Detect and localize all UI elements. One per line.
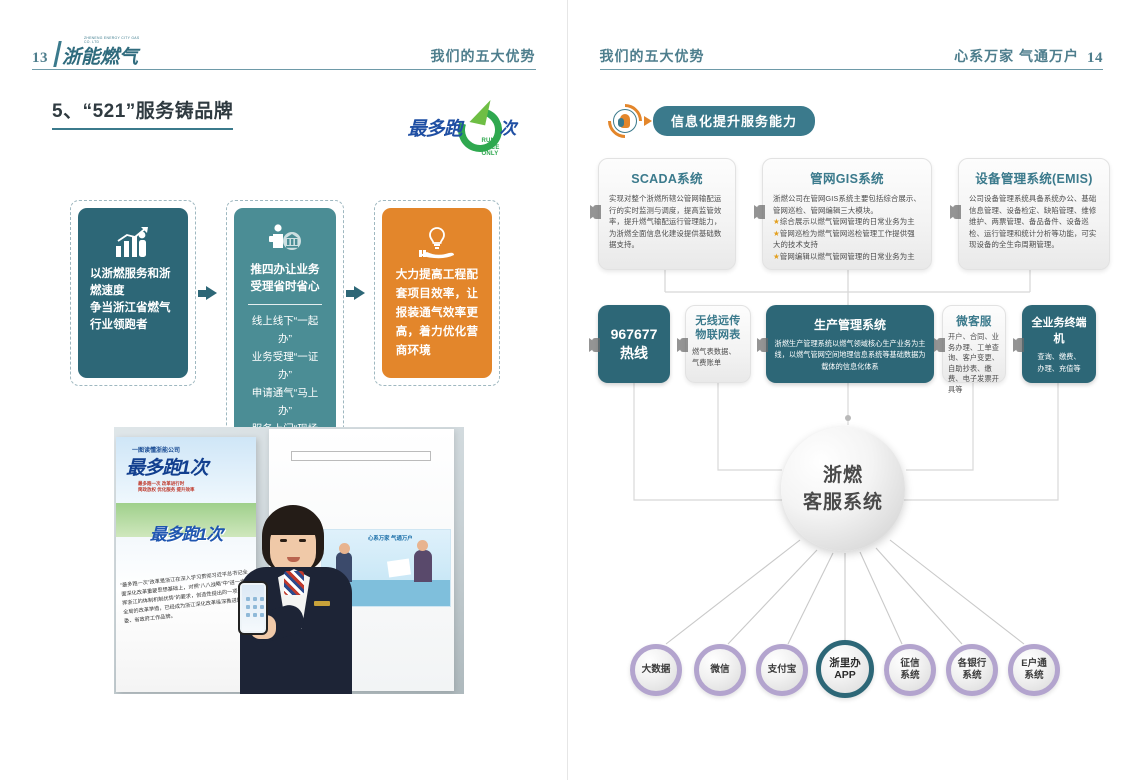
iot-meter-body: 燃气表数据、气费账单 [692,346,744,368]
hub-line-1: 浙燃 [823,462,863,489]
iot-meter-title: 无线远传物联网表 [692,314,744,342]
hub-line-2: 客服系统 [803,489,883,516]
gis-title: 管网GIS系统 [773,168,921,187]
hotline-label: 热线 [620,344,648,363]
run-once-badge: 最多跑 次 RUN ONCE ONLY [408,96,530,154]
system-card-iot-meter[interactable]: 无线远传物联网表 燃气表数据、气费账单 [685,305,751,383]
customer-service-hub[interactable]: 浙燃 客服系统 [781,427,905,551]
system-card-production[interactable]: 生产管理系统 浙燃生产管理系统以燃气领域核心生产业务为主线，以燃气管网空间地理信… [766,305,934,383]
page-number-right: 14 [1087,50,1103,69]
system-card-hotline[interactable]: 967677 热线 [598,305,670,383]
card-arrow-icon [589,338,599,352]
photo-phone [238,581,268,635]
flow-card-1-head: 以浙燃服务和浙 燃速度 争当浙江省燃气 行业领跑者 [90,266,176,334]
flow-arrow-1 [196,200,226,386]
scada-title: SCADA系统 [609,168,725,187]
bar-chart-growth-icon [113,224,153,260]
emis-body: 公司设备管理系统具备系统办公、基础信息管理、设备检定、缺陷管理、维修维护、两票管… [969,193,1099,251]
card-arrow-icon [934,338,944,352]
panel-title-text [291,451,431,461]
flow-card-wrap-3: 大力提高工程配 套项目效率，让 报装通气效率更 高，着力优化营 商环境 [374,200,500,386]
badge-text-1: 最多跑 [408,114,462,141]
system-card-wechat-service[interactable]: 微客服 开户、合同、业务办理、工单查询、客户变更、自助抄表、缴费、电子发票开具等 [942,305,1006,383]
node-label: 浙里办APP [829,657,861,681]
channel-node-bigdata[interactable]: 大数据 [630,644,682,696]
card-arrow-icon [950,205,960,219]
service-counter-icon [267,220,303,256]
node-label: 大数据 [642,664,671,676]
hotline-number: 967677 [611,325,658,344]
pill-arrow-icon [644,116,652,126]
section-pill[interactable]: 信息化提升服务能力 [608,104,815,138]
gis-star-1: ★综合展示以燃气管网管理的日常业务为主 [773,216,921,228]
card-arrow-icon [677,338,687,352]
production-body: 浙燃生产管理系统以燃气领域核心生产业务为主线，以燃气管网空间地理信息系统等基础数… [774,338,926,372]
card-arrow-icon [754,205,764,219]
flow-card-2-head: 推四办让业务 受理省时省心 [251,262,320,296]
scada-body: 实现对整个浙燃所辖公管网输配运行的实时监测与调度，提高监管效率，提升燃气输配运行… [609,193,725,251]
header-right-group: 心系万家 气通万户 14 [954,46,1103,69]
left-page: 13 ZHENENG ENERGY CITY GAS CO. LTD 浙能燃气 … [0,0,568,780]
page-spread: 13 ZHENENG ENERGY CITY GAS CO. LTD 浙能燃气 … [0,0,1135,780]
banner-headline: 最多跑1次 [126,453,208,480]
right-header-slogan: 心系万家 气通万户 [954,46,1079,69]
left-page-header: 13 ZHENENG ENERGY CITY GAS CO. LTD 浙能燃气 … [32,40,536,70]
node-label: 支付宝 [768,664,797,676]
gis-star-2: ★管网巡检为燃气管网巡检管理工作提供强大的技术支持 [773,228,921,251]
lightbulb-hand-icon [417,224,457,260]
card-divider [248,304,322,305]
header-left-group: 13 ZHENENG ENERGY CITY GAS CO. LTD 浙能燃气 [32,41,160,69]
card-arrow-icon [757,338,767,352]
logo-bar-icon [53,41,62,67]
node-label: 征信系统 [900,658,919,682]
flow-card-3-head: 大力提高工程配 套项目效率，让 报装通气效率更 高，着力优化营 商环境 [396,266,479,361]
card-arrow-icon [1013,338,1023,352]
channel-node-credit[interactable]: 征信系统 [884,644,936,696]
node-label: 微信 [710,664,729,676]
terminal-body: 查询、缴费、办理、充值等 [1037,351,1080,374]
system-card-emis[interactable]: 设备管理系统(EMIS) 公司设备管理系统具备系统办公、基础信息管理、设备检定、… [958,158,1110,270]
badge-english: RUN ONCE ONLY [482,138,500,158]
section-title: 5、“521”服务铸品牌 [52,96,233,130]
channel-node-zhelib-app[interactable]: 浙里办APP [816,640,874,698]
section-pill-label: 信息化提升服务能力 [653,106,815,136]
right-page-header: 我们的五大优势 心系万家 气通万户 14 [600,40,1104,70]
wechat-service-title: 微客服 [948,313,1000,329]
flow-card-1[interactable]: 以浙燃服务和浙 燃速度 争当浙江省燃气 行业领跑者 [78,208,188,378]
flow-arrow-2 [344,200,374,386]
channel-node-banks[interactable]: 各银行系统 [946,644,998,696]
system-card-terminal[interactable]: 全业务终端机 查询、缴费、办理、充值等 [1022,305,1096,383]
wechat-service-body: 开户、合同、业务办理、工单查询、客户变更、自助抄表、缴费、电子发票开具等 [948,332,1000,396]
banner-headline-2: 最多跑1次 [128,525,244,544]
channel-node-alipay[interactable]: 支付宝 [756,644,808,696]
emis-title: 设备管理系统(EMIS) [969,168,1099,187]
channel-node-ehutong[interactable]: E户通系统 [1008,644,1060,696]
system-card-scada[interactable]: SCADA系统 实现对整个浙燃所辖公管网输配运行的实时监测与调度，提高监管效率，… [598,158,736,270]
production-title: 生产管理系统 [814,316,886,333]
page-number-left: 13 [32,50,48,69]
promotional-photo: 心系万家 气通万户 一图读懂浙能公司 最多跑1次 最多跑一次 改革进行时简政放权… [114,427,464,694]
gis-star-3: ★管网编辑以燃气管网管理的日常业务为主 [773,251,921,263]
card-arrow-icon [590,205,600,219]
terminal-title: 全业务终端机 [1027,314,1091,346]
company-logo: ZHENENG ENERGY CITY GAS CO. LTD 浙能燃气 [56,41,160,69]
panel-slogan: 心系万家 气通万户 [368,534,413,542]
channel-node-wechat[interactable]: 微信 [694,644,746,696]
node-label: 各银行系统 [958,658,987,682]
flow-card-3[interactable]: 大力提高工程配 套项目效率，让 报装通气效率更 高，着力优化营 商环境 [382,208,492,378]
flow-card-wrap-1: 以浙燃服务和浙 燃速度 争当浙江省燃气 行业领跑者 [70,200,196,386]
right-header-title: 我们的五大优势 [600,46,705,69]
node-label: E户通系统 [1021,658,1047,682]
logo-chinese-text: 浙能燃气 [62,42,138,69]
gis-body: 浙燃公司在管网GIS系统主要包括综合展示、管网巡检、管网编辑三大模块。 [773,193,921,216]
system-card-gis[interactable]: 管网GIS系统 浙燃公司在管网GIS系统主要包括综合展示、管网巡检、管网编辑三大… [762,158,932,270]
left-header-title: 我们的五大优势 [431,46,536,69]
badge-text-2: 次 [500,114,517,139]
fingerprint-touch-icon [608,104,642,138]
banner-red-text: 最多跑一次 改革进行时简政放权 优化服务 提升效率 [138,481,195,493]
photo-person [234,505,362,694]
